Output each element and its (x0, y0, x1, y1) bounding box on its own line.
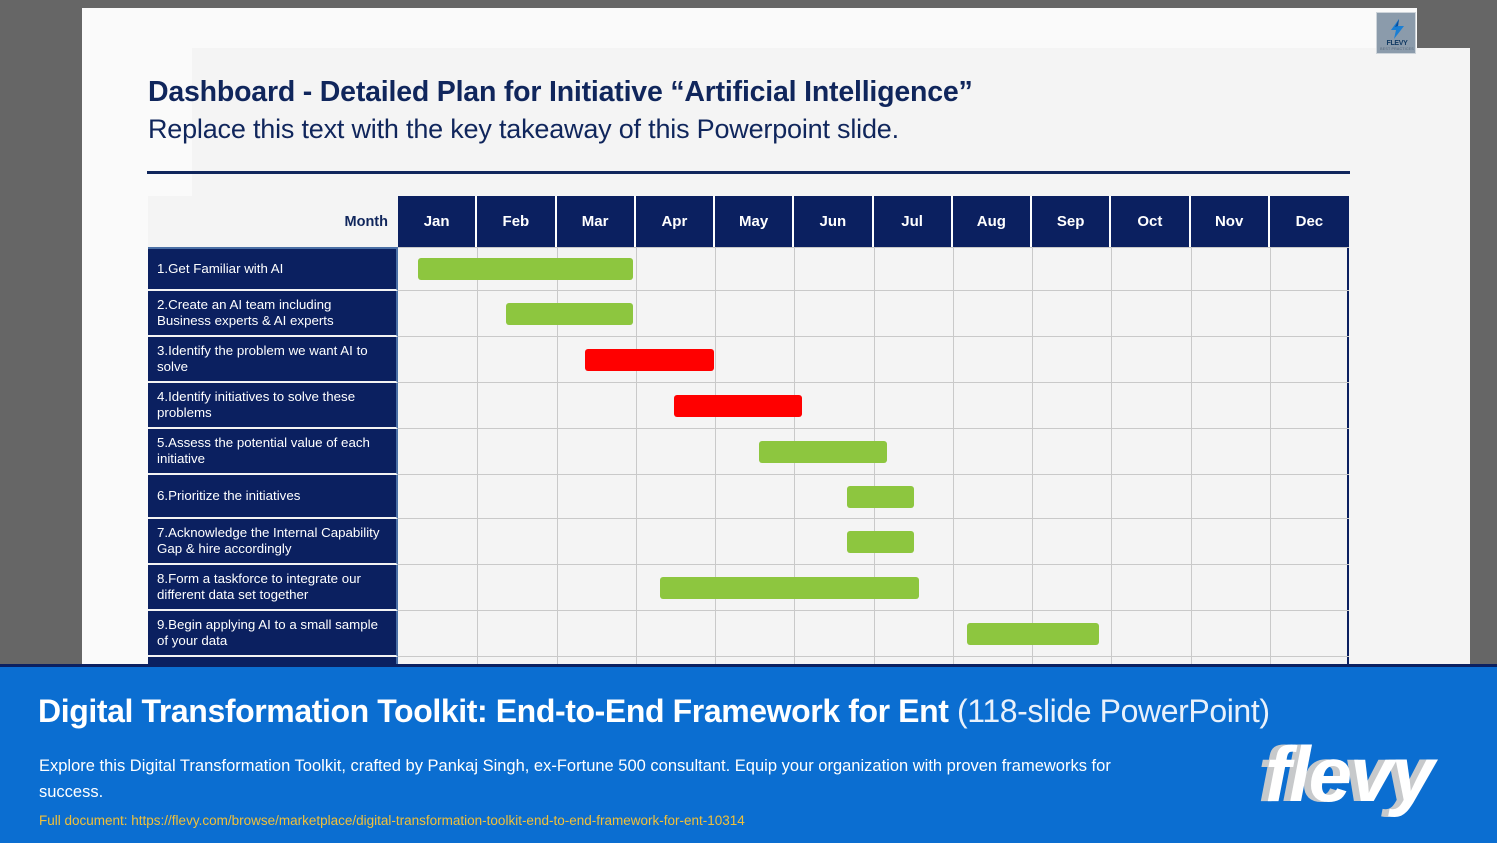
gantt-task-row[interactable]: 1.Get Familiar with AI (148, 247, 1349, 291)
gantt-task-label: 7.Acknowledge the Internal Capability Ga… (148, 519, 398, 565)
gantt-gridline (794, 475, 795, 518)
gantt-bar-red[interactable] (585, 349, 714, 371)
flevy-corner-badge: FLEVY BEST PRACTICES (1376, 12, 1416, 54)
gantt-gridline (1270, 291, 1271, 336)
gantt-month-header-nov: Nov (1191, 196, 1270, 247)
gantt-chart: Month JanFebMarAprMayJunJulAugSepOctNovD… (148, 196, 1349, 664)
gantt-right-edge (1347, 611, 1349, 656)
gantt-gridline (794, 248, 795, 290)
gantt-gridline (715, 519, 716, 564)
gantt-gridline (794, 337, 795, 382)
gantt-month-header-oct: Oct (1111, 196, 1190, 247)
gantt-gridline (874, 611, 875, 656)
banner-title-bold: Digital Transformation Toolkit: End-to-E… (38, 693, 949, 729)
gantt-gridline (1191, 519, 1192, 564)
gantt-gridline (953, 248, 954, 290)
gantt-right-edge (1347, 475, 1349, 518)
gantt-gridline (1191, 383, 1192, 428)
gantt-task-track (398, 611, 1349, 657)
gantt-gridline (1191, 611, 1192, 656)
gantt-task-label: 5.Assess the potential value of each ini… (148, 429, 398, 475)
gantt-gridline (1111, 383, 1112, 428)
gantt-gridline (1270, 429, 1271, 474)
gantt-task-row[interactable] (148, 657, 1349, 664)
gantt-task-row[interactable]: 2.Create an AI team including Business e… (148, 291, 1349, 337)
gantt-gridline (557, 519, 558, 564)
gantt-gridline (636, 475, 637, 518)
gantt-gridline (874, 337, 875, 382)
gantt-month-header-apr: Apr (636, 196, 715, 247)
gantt-gridline (636, 657, 637, 664)
gantt-gridline (477, 611, 478, 656)
gantt-gridline (557, 475, 558, 518)
gantt-right-edge (1347, 337, 1349, 382)
gantt-gridline (477, 565, 478, 610)
gantt-header-row: Month JanFebMarAprMayJunJulAugSepOctNovD… (148, 196, 1349, 247)
gantt-gridline (794, 291, 795, 336)
gantt-gridline (953, 291, 954, 336)
gantt-month-header-feb: Feb (477, 196, 556, 247)
gantt-gridline (1270, 475, 1271, 518)
gantt-gridline (953, 611, 954, 656)
gantt-task-track (398, 291, 1349, 337)
gantt-task-label: 8.Form a taskforce to integrate our diff… (148, 565, 398, 611)
gantt-gridline (1032, 248, 1033, 290)
gantt-bar-green[interactable] (506, 303, 634, 325)
gantt-gridline (636, 291, 637, 336)
gantt-gridline (953, 337, 954, 382)
gantt-right-edge (1347, 429, 1349, 474)
gantt-gridline (874, 657, 875, 664)
badge-subtitle: BEST PRACTICES (1377, 47, 1416, 51)
gantt-gridline (1270, 337, 1271, 382)
gantt-gridline (1191, 565, 1192, 610)
gantt-gridline (557, 565, 558, 610)
gantt-gridline (1111, 519, 1112, 564)
gantt-month-header-sep: Sep (1032, 196, 1111, 247)
gantt-gridline (1270, 565, 1271, 610)
banner-url[interactable]: Full document: https://flevy.com/browse/… (39, 813, 745, 828)
badge-name: FLEVY (1377, 40, 1416, 47)
gantt-gridline (636, 248, 637, 290)
gantt-gridline (1032, 565, 1033, 610)
gantt-gridline (1032, 475, 1033, 518)
gantt-task-row[interactable]: 3.Identify the problem we want AI to sol… (148, 337, 1349, 383)
gantt-gridline (953, 383, 954, 428)
gantt-bar-green[interactable] (418, 258, 634, 280)
gantt-gridline (1032, 291, 1033, 336)
gantt-gridline (953, 475, 954, 518)
gantt-gridline (794, 519, 795, 564)
gantt-right-edge (1347, 291, 1349, 336)
gantt-gridline (874, 248, 875, 290)
gantt-task-track (398, 565, 1349, 611)
gantt-gridline (1111, 475, 1112, 518)
gantt-gridline (715, 657, 716, 664)
gantt-task-row[interactable]: 5.Assess the potential value of each ini… (148, 429, 1349, 475)
gantt-month-header-jul: Jul (874, 196, 953, 247)
gantt-task-label: 2.Create an AI team including Business e… (148, 291, 398, 337)
gantt-gridline (1270, 383, 1271, 428)
gantt-task-label (148, 657, 398, 664)
gantt-gridline (1032, 383, 1033, 428)
gantt-gridline (557, 657, 558, 664)
gantt-right-edge (1347, 657, 1349, 664)
gantt-month-header-jan: Jan (398, 196, 477, 247)
gantt-gridline (715, 248, 716, 290)
title-divider (147, 171, 1350, 174)
gantt-task-row[interactable]: 9.Begin applying AI to a small sample of… (148, 611, 1349, 657)
gantt-gridline (1191, 475, 1192, 518)
gantt-gridline (953, 565, 954, 610)
gantt-gridline (715, 475, 716, 518)
gantt-task-label: 1.Get Familiar with AI (148, 247, 398, 291)
gantt-gridline (477, 657, 478, 664)
gantt-gridline (636, 565, 637, 610)
gantt-bar-green[interactable] (847, 531, 914, 553)
gantt-gridline (1270, 519, 1271, 564)
screenshot-root: FLEVY BEST PRACTICES Dashboard - Detaile… (0, 0, 1497, 843)
gantt-month-header-may: May (715, 196, 794, 247)
gantt-gridline (557, 337, 558, 382)
page-subtitle: Replace this text with the key takeaway … (148, 114, 899, 145)
gantt-gridline (874, 291, 875, 336)
gantt-task-track (398, 247, 1349, 291)
gantt-task-row[interactable]: 7.Acknowledge the Internal Capability Ga… (148, 519, 1349, 565)
gantt-gridline (477, 337, 478, 382)
gantt-gridline (477, 519, 478, 564)
lightning-bolt-icon (1390, 19, 1405, 39)
gantt-task-track (398, 519, 1349, 565)
gantt-gridline (1111, 611, 1112, 656)
flevy-logo: flevy (1265, 735, 1433, 813)
banner-title-light: (118-slide PowerPoint) (957, 693, 1270, 729)
gantt-gridline (715, 611, 716, 656)
gantt-gridline (715, 291, 716, 336)
gantt-task-track (398, 429, 1349, 475)
gantt-gridline (953, 519, 954, 564)
gantt-gridline (1191, 657, 1192, 664)
gantt-right-edge (1347, 519, 1349, 564)
gantt-gridline (477, 429, 478, 474)
gantt-gridline (557, 611, 558, 656)
gantt-task-label: 3.Identify the problem we want AI to sol… (148, 337, 398, 383)
gantt-gridline (1111, 291, 1112, 336)
gantt-gridline (715, 337, 716, 382)
gantt-gridline (1111, 337, 1112, 382)
gantt-gridline (477, 291, 478, 336)
gantt-gridline (1191, 248, 1192, 290)
gantt-month-header-jun: Jun (794, 196, 873, 247)
gantt-right-edge (1347, 565, 1349, 610)
gantt-gridline (1111, 565, 1112, 610)
gantt-gridline (477, 475, 478, 518)
gantt-gridline (1191, 337, 1192, 382)
gantt-right-edge (1347, 248, 1349, 290)
gantt-bar-green[interactable] (660, 577, 919, 599)
gantt-gridline (636, 429, 637, 474)
gantt-gridline (1111, 429, 1112, 474)
gantt-gridline (1032, 337, 1033, 382)
gantt-gridline (1270, 611, 1271, 656)
gantt-gridline (1270, 248, 1271, 290)
gantt-month-header-mar: Mar (557, 196, 636, 247)
gantt-bar-green[interactable] (967, 623, 1099, 645)
gantt-bar-red[interactable] (674, 395, 802, 417)
gantt-task-label: 4.Identify initiatives to solve these pr… (148, 383, 398, 429)
gantt-task-track (398, 383, 1349, 429)
gantt-task-label: 6.Prioritize the initiatives (148, 475, 398, 519)
gantt-gridline (953, 429, 954, 474)
gantt-gridline (636, 519, 637, 564)
gantt-gridline (1191, 291, 1192, 336)
banner-description: Explore this Digital Transformation Tool… (39, 753, 1119, 805)
gantt-task-label: 9.Begin applying AI to a small sample of… (148, 611, 398, 657)
gantt-gridline (953, 657, 954, 664)
gantt-task-track (398, 475, 1349, 519)
gantt-gridline (1111, 657, 1112, 664)
gantt-gridline (1032, 657, 1033, 664)
gantt-gridline (715, 429, 716, 474)
gantt-gridline (477, 383, 478, 428)
gantt-gridline (1270, 657, 1271, 664)
gantt-gridline (794, 657, 795, 664)
gantt-gridline (557, 383, 558, 428)
gantt-gridline (636, 383, 637, 428)
gantt-task-row[interactable]: 8.Form a taskforce to integrate our diff… (148, 565, 1349, 611)
gantt-bar-green[interactable] (847, 486, 914, 508)
gantt-gridline (1191, 429, 1192, 474)
gantt-month-header-dec: Dec (1270, 196, 1349, 247)
page-title: Dashboard - Detailed Plan for Initiative… (148, 76, 973, 109)
gantt-body: 1.Get Familiar with AI2.Create an AI tea… (148, 247, 1349, 664)
gantt-task-track (398, 657, 1349, 664)
gantt-gridline (794, 611, 795, 656)
gantt-month-header-label: Month (148, 196, 398, 247)
gantt-right-edge (1347, 383, 1349, 428)
gantt-task-track (398, 337, 1349, 383)
gantt-gridline (874, 383, 875, 428)
gantt-task-row[interactable]: 4.Identify initiatives to solve these pr… (148, 383, 1349, 429)
gantt-gridline (1032, 519, 1033, 564)
gantt-month-header-aug: Aug (953, 196, 1032, 247)
gantt-bar-green[interactable] (759, 441, 887, 463)
gantt-gridline (557, 429, 558, 474)
gantt-gridline (636, 611, 637, 656)
gantt-gridline (1111, 248, 1112, 290)
gantt-gridline (1032, 429, 1033, 474)
gantt-task-row[interactable]: 6.Prioritize the initiatives (148, 475, 1349, 519)
banner-title: Digital Transformation Toolkit: End-to-E… (38, 693, 1270, 730)
